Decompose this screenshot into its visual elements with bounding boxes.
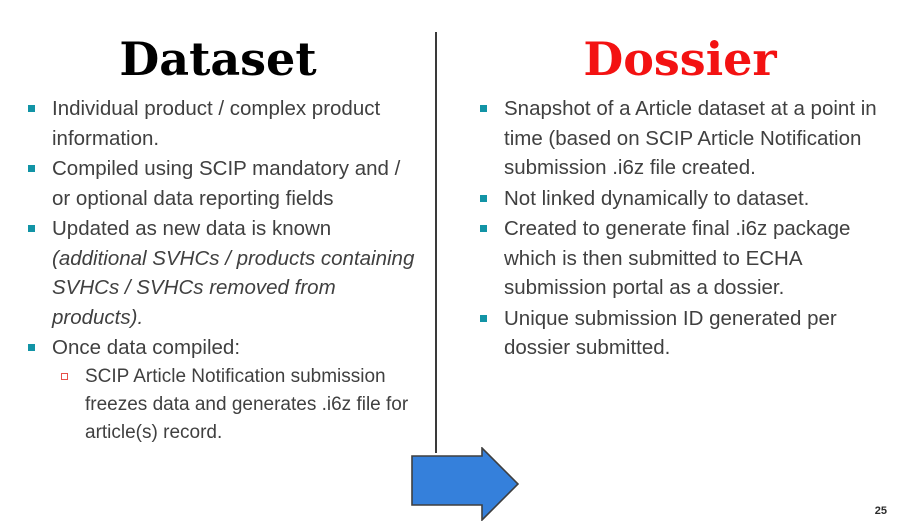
list-item-text: Once data compiled: <box>52 336 240 359</box>
bullet-square-icon <box>480 315 487 322</box>
column-divider-line <box>435 32 437 453</box>
bullet-square-icon <box>480 195 487 202</box>
list-item-text: Updated as new data is known <box>52 217 331 240</box>
bullet-square-icon <box>480 105 487 112</box>
list-item: Once data compiled: SCIP Article Notific… <box>18 333 418 447</box>
list-item-text: Compiled using SCIP mandatory and / or o… <box>52 157 400 210</box>
page-number: 25 <box>875 505 887 517</box>
list-item-text: Not linked dynamically to dataset. <box>504 187 809 210</box>
list-item-italic-note: (additional SVHCs / products containing … <box>52 244 418 333</box>
right-arrow-icon <box>411 447 519 521</box>
list-item: Unique submission ID generated per dossi… <box>470 304 890 363</box>
bullet-square-icon <box>28 165 35 172</box>
bullet-square-icon <box>28 344 35 351</box>
sub-list-item: SCIP Article Notification submission fre… <box>52 363 418 447</box>
list-item: Updated as new data is known (additional… <box>18 214 418 332</box>
bullet-square-icon <box>480 225 487 232</box>
list-item: Compiled using SCIP mandatory and / or o… <box>18 154 418 213</box>
right-bullet-list: Snapshot of a Article dataset at a point… <box>470 94 890 363</box>
list-item-text: Created to generate final .i6z package w… <box>504 217 850 299</box>
sub-bullet-square-icon <box>61 373 68 380</box>
list-item: Snapshot of a Article dataset at a point… <box>470 94 890 183</box>
list-item: Not linked dynamically to dataset. <box>470 184 890 214</box>
sub-list-item-text: SCIP Article Notification submission fre… <box>85 366 408 443</box>
left-sub-bullet-list: SCIP Article Notification submission fre… <box>52 363 418 447</box>
left-column-title: Dataset <box>18 36 418 82</box>
left-bullet-list: Individual product / complex product inf… <box>18 94 418 447</box>
list-item-text: Unique submission ID generated per dossi… <box>504 307 837 360</box>
bullet-square-icon <box>28 225 35 232</box>
right-column-title: Dossier <box>470 36 890 82</box>
right-column: Dossier Snapshot of a Article dataset at… <box>470 0 890 364</box>
bullet-square-icon <box>28 105 35 112</box>
slide-canvas: Dataset Individual product / complex pro… <box>0 0 897 525</box>
list-item-text: Individual product / complex product inf… <box>52 97 380 150</box>
list-item-text: Snapshot of a Article dataset at a point… <box>504 97 877 179</box>
list-item: Individual product / complex product inf… <box>18 94 418 153</box>
list-item: Created to generate final .i6z package w… <box>470 214 890 303</box>
left-column: Dataset Individual product / complex pro… <box>18 0 418 448</box>
